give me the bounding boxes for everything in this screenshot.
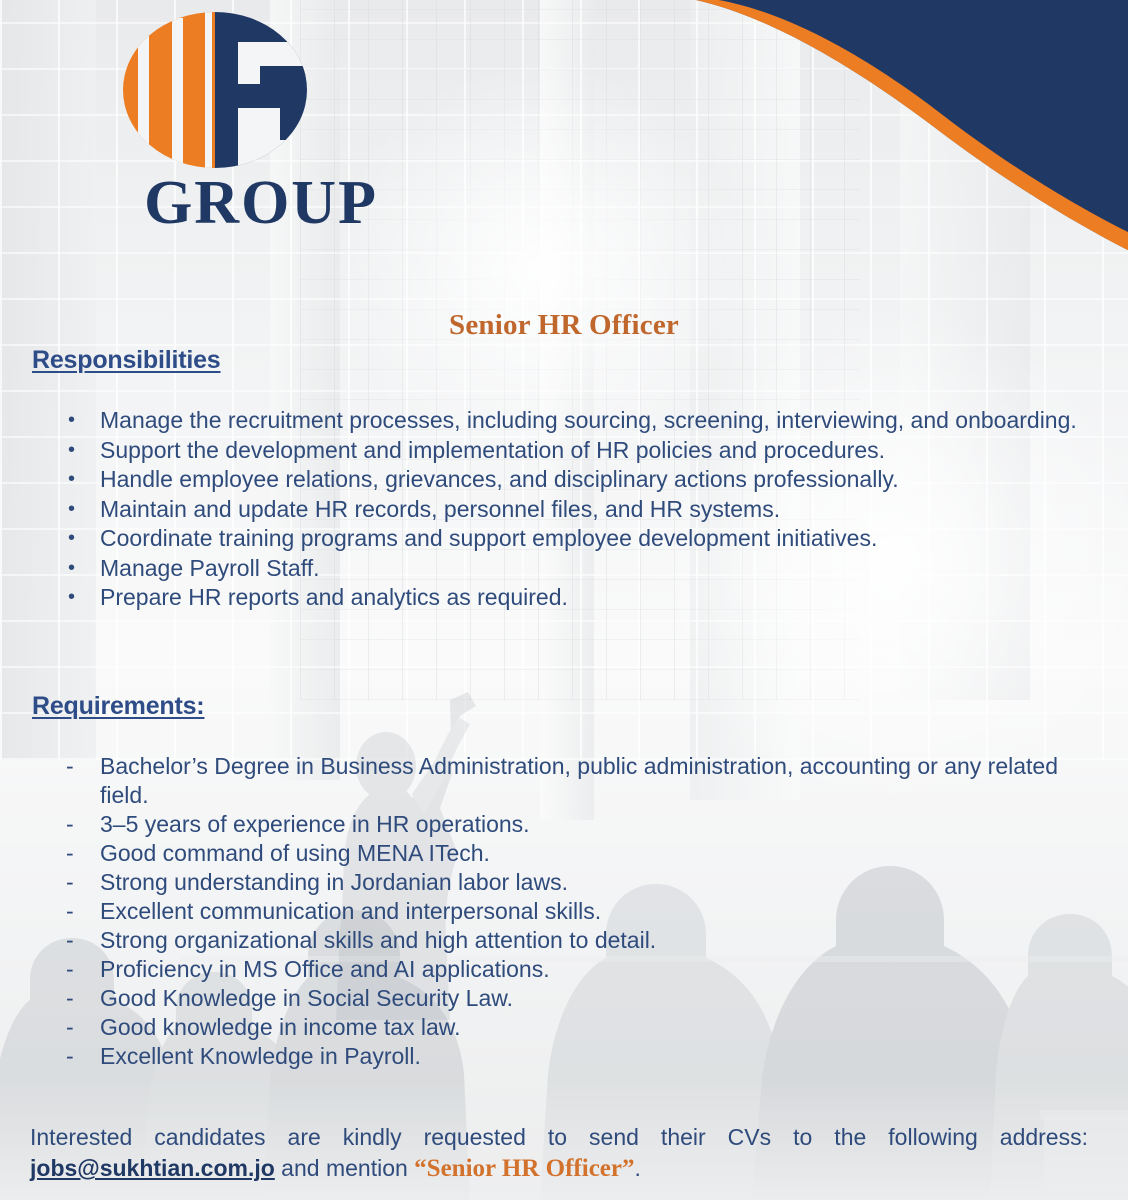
job-title: Senior HR Officer [0,309,1128,342]
dash-marker: - [56,897,100,926]
application-footer: Interested candidates are kindly request… [30,1122,1088,1184]
list-item: •Coordinate training programs and suppor… [56,524,1096,553]
list-item-text: Good Knowledge in Social Security Law. [100,984,1102,1013]
dash-marker: - [56,868,100,897]
list-item: -3–5 years of experience in HR operation… [56,810,1102,839]
dash-marker: - [56,752,100,781]
list-item: -Strong organizational skills and high a… [56,926,1102,955]
bullet-marker: • [56,465,100,494]
bullet-marker: • [56,406,100,435]
responsibilities-list: •Manage the recruitment processes, inclu… [56,406,1096,613]
footer-quoted-job-title: “Senior HR Officer” [414,1155,634,1182]
list-item: -Good knowledge in income tax law. [56,1013,1102,1042]
list-item: •Manage Payroll Staff. [56,554,1096,583]
poster-content: Senior HR Officer Responsibilities •Mana… [0,0,1128,1200]
bullet-marker: • [56,524,100,553]
list-item: -Proficiency in MS Office and AI applica… [56,955,1102,984]
responsibilities-heading: Responsibilities [32,346,221,375]
list-item-text: Support the development and implementati… [100,436,1096,465]
list-item-text: Strong organizational skills and high at… [100,926,1102,955]
list-item-text: Maintain and update HR records, personne… [100,495,1096,524]
list-item: •Manage the recruitment processes, inclu… [56,406,1096,435]
list-item-text: Excellent communication and interpersona… [100,897,1102,926]
dash-marker: - [56,1042,100,1071]
list-item-text: Manage the recruitment processes, includ… [100,406,1096,435]
list-item-text: Bachelor’s Degree in Business Administra… [100,752,1102,809]
requirements-list: -Bachelor’s Degree in Business Administr… [56,752,1102,1071]
list-item: -Strong understanding in Jordanian labor… [56,868,1102,897]
list-item: -Bachelor’s Degree in Business Administr… [56,752,1102,809]
bullet-marker: • [56,583,100,612]
list-item-text: Handle employee relations, grievances, a… [100,465,1096,494]
list-item: -Excellent Knowledge in Payroll. [56,1042,1102,1071]
footer-period: . [635,1155,641,1181]
list-item-text: Excellent Knowledge in Payroll. [100,1042,1102,1071]
list-item-text: Strong understanding in Jordanian labor … [100,868,1102,897]
list-item: -Good Knowledge in Social Security Law. [56,984,1102,1013]
dash-marker: - [56,984,100,1013]
list-item-text: Proficiency in MS Office and AI applicat… [100,955,1102,984]
list-item: •Handle employee relations, grievances, … [56,465,1096,494]
list-item: •Support the development and implementat… [56,436,1096,465]
application-email-link[interactable]: jobs@sukhtian.com.jo [30,1155,275,1181]
requirements-heading: Requirements: [32,692,204,721]
footer-instruction-line: Interested candidates are kindly request… [30,1122,1088,1152]
list-item-text: 3–5 years of experience in HR operations… [100,810,1102,839]
bullet-marker: • [56,436,100,465]
footer-contact-line: jobs@sukhtian.com.jo and mention “Senior… [30,1153,1088,1184]
list-item: •Maintain and update HR records, personn… [56,495,1096,524]
list-item-text: Good knowledge in income tax law. [100,1013,1102,1042]
list-item-text: Coordinate training programs and support… [100,524,1096,553]
bullet-marker: • [56,495,100,524]
bullet-marker: • [56,554,100,583]
list-item-text: Manage Payroll Staff. [100,554,1096,583]
job-posting-poster: GROUP Senior HR Officer Responsibilities… [0,0,1128,1200]
list-item: •Prepare HR reports and analytics as req… [56,583,1096,612]
list-item: -Excellent communication and interperson… [56,897,1102,926]
dash-marker: - [56,955,100,984]
footer-mid-text: and mention [275,1155,414,1181]
dash-marker: - [56,1013,100,1042]
dash-marker: - [56,810,100,839]
list-item: -Good command of using MENA ITech. [56,839,1102,868]
dash-marker: - [56,926,100,955]
dash-marker: - [56,839,100,868]
list-item-text: Good command of using MENA ITech. [100,839,1102,868]
list-item-text: Prepare HR reports and analytics as requ… [100,583,1096,612]
